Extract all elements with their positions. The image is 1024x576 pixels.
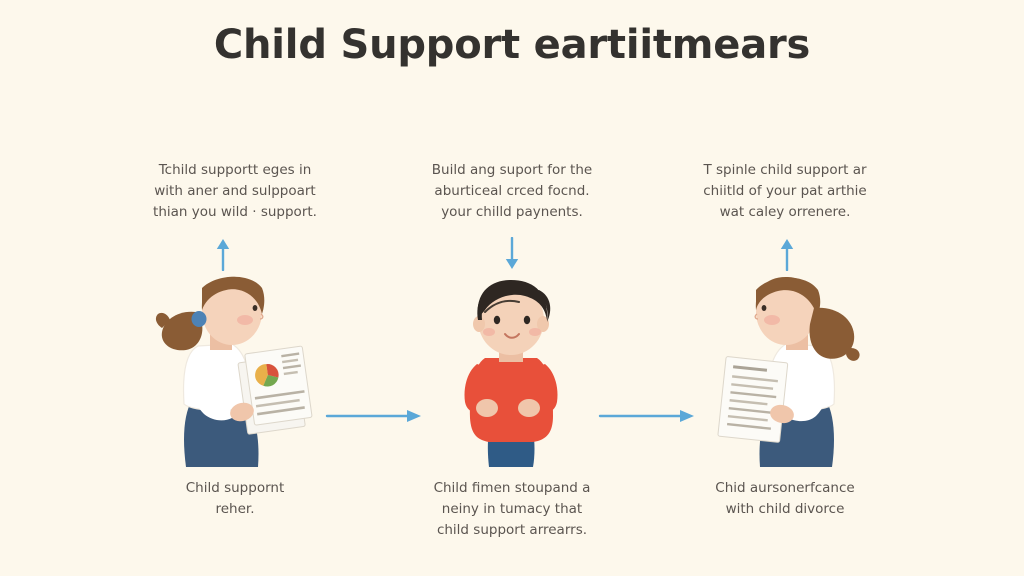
column-2-bottom-text: Child fimen stoupand a neiny in tumacy t… xyxy=(362,478,662,541)
column-1-figure xyxy=(85,272,385,467)
column-3-top-text: T spinle child support ar chiitld of you… xyxy=(635,160,935,223)
columns-container: Tchild supportt eges in with aner and su… xyxy=(0,0,1024,576)
woman-with-document-icon xyxy=(696,272,874,467)
column-2-bottom-line-1: Child fimen stoupand a xyxy=(362,478,662,499)
column-3-top-line-3: wat caley orrenere. xyxy=(635,202,935,223)
column-3-figure xyxy=(635,272,935,467)
arrow-down-icon xyxy=(501,237,523,271)
column-3-top-line-2: chiitld of your pat arthie xyxy=(635,181,935,202)
infographic-canvas: Child Support eartiitmears Tchild suppor… xyxy=(0,0,1024,576)
column-2-bottom-line-3: child support arrearrs. xyxy=(362,520,662,541)
connector-2 xyxy=(598,404,698,428)
arrow-right-icon xyxy=(598,404,698,428)
column-1-bottom-line-1: Child suppornt xyxy=(85,478,385,499)
boy-icon xyxy=(437,272,587,467)
column-1-bottom-line-2: reher. xyxy=(85,499,385,520)
connector-1 xyxy=(325,404,425,428)
column-2-top-text: Build ang suport for the aburticeal crce… xyxy=(362,160,662,223)
column-1-top-text: Tchild supportt eges in with aner and su… xyxy=(85,160,385,223)
column-2-figure xyxy=(362,272,662,467)
woman-with-documents-icon xyxy=(146,272,324,467)
column-2-arrow xyxy=(362,236,662,272)
column-3-arrow xyxy=(637,236,937,272)
column-2-top-line-2: aburticeal crced focnd. xyxy=(362,181,662,202)
column-1: Tchild supportt eges in with aner and su… xyxy=(85,0,385,576)
column-1-top-line-3: thian you wild · support. xyxy=(85,202,385,223)
column-2-top-line-1: Build ang suport for the xyxy=(362,160,662,181)
column-3-bottom-text: Chid aursonerfcance with child divorce xyxy=(635,478,935,520)
arrow-up-icon xyxy=(776,237,798,271)
arrow-up-icon xyxy=(212,237,234,271)
arrow-right-icon xyxy=(325,404,425,428)
column-2: Build ang suport for the aburticeal crce… xyxy=(362,0,662,576)
column-1-arrow xyxy=(73,236,373,272)
column-3: T spinle child support ar chiitld of you… xyxy=(635,0,935,576)
column-3-bottom-line-1: Chid aursonerfcance xyxy=(635,478,935,499)
column-2-bottom-line-2: neiny in tumacy that xyxy=(362,499,662,520)
column-1-top-line-2: with aner and sulppoart xyxy=(85,181,385,202)
column-3-top-line-1: T spinle child support ar xyxy=(635,160,935,181)
column-3-bottom-line-2: with child divorce xyxy=(635,499,935,520)
column-1-top-line-1: Tchild supportt eges in xyxy=(85,160,385,181)
column-1-bottom-text: Child suppornt reher. xyxy=(85,478,385,520)
column-2-top-line-3: your chilld paynents. xyxy=(362,202,662,223)
